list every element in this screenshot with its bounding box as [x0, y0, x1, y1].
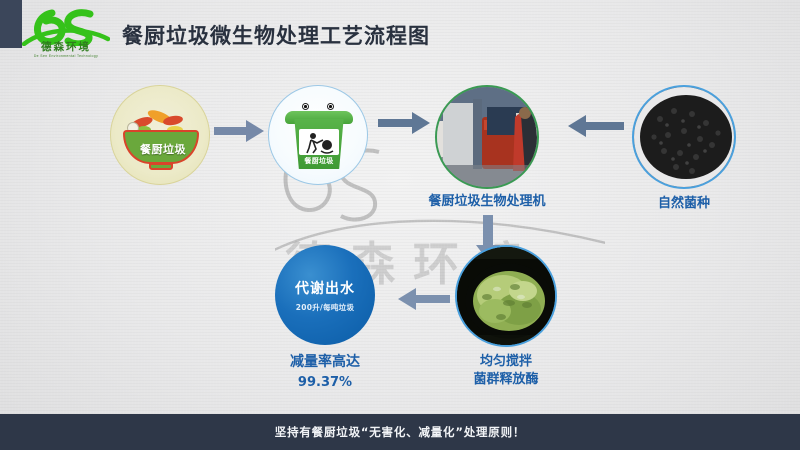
- mixing-caption-line-1: 均匀搅拌: [480, 354, 532, 369]
- footer-text: 坚持有餐厨垃圾“无害化、减量化”处理原则！: [275, 424, 525, 440]
- metabolic-water-circle: 代谢出水 200升/每吨垃圾: [275, 245, 375, 345]
- node-waste-bin: 餐厨垃圾: [268, 85, 368, 185]
- page-title: 餐厨垃圾微生物处理工艺流程图: [122, 20, 430, 50]
- node-caption: 餐厨垃圾生物处理机: [428, 193, 545, 211]
- ds-logo-mark: [22, 6, 110, 46]
- water-caption: 减量率高达 99.37%: [290, 353, 360, 392]
- corner-accent-block: [0, 0, 22, 48]
- arrow-bin-to-machine: [378, 112, 430, 134]
- footer-bar: 坚持有餐厨垃圾“无害化、减量化”处理原则！: [0, 414, 800, 450]
- mixing-caption-line-2: 菌群释放酶: [473, 372, 538, 387]
- logo-english-name: De Sen Environmental Technology: [22, 54, 110, 58]
- bin-sign-icon: [299, 129, 339, 155]
- company-logo: 德森环境 De Sen Environmental Technology: [22, 6, 110, 64]
- node-food-waste: 餐厨垃圾: [110, 85, 210, 185]
- arrow-mixing-to-water: [398, 288, 450, 310]
- bowl-label: 餐厨垃圾: [125, 141, 201, 157]
- reduction-rate-label: 减量率高达: [290, 354, 360, 370]
- node-bio-machine: 餐厨垃圾生物处理机: [435, 85, 539, 189]
- food-waste-bowl-icon: 餐厨垃圾: [110, 85, 210, 185]
- green-trash-bin-icon: 餐厨垃圾: [268, 85, 368, 185]
- bin-eye-right: [327, 103, 334, 110]
- logo-chinese-name: 德森环境: [22, 42, 110, 53]
- bowl-shape: 餐厨垃圾: [123, 130, 199, 164]
- node-caption: 均匀搅拌 菌群释放酶: [473, 353, 538, 388]
- black-granules-photo: [632, 85, 736, 189]
- mixing-photo: [455, 245, 557, 347]
- arrow-waste-to-bin: [214, 120, 264, 142]
- water-title: 代谢出水: [295, 278, 355, 298]
- water-subtitle: 200升/每吨垃圾: [296, 302, 355, 313]
- machine-photo: [435, 85, 539, 189]
- arrow-strain-to-machine: [568, 115, 624, 137]
- node-even-mixing: 均匀搅拌 菌群释放酶: [455, 245, 557, 347]
- reduction-rate-value: 99.37%: [298, 375, 352, 390]
- bin-label: 餐厨垃圾: [291, 156, 347, 166]
- slide-canvas: 德森环境 德森环境 De Sen Environmental Technolog…: [0, 0, 800, 450]
- bin-eye-left: [302, 103, 309, 110]
- node-natural-strain: 自然菌种: [632, 85, 736, 189]
- node-caption: 自然菌种: [658, 195, 710, 213]
- bowl-foot: [149, 163, 173, 170]
- node-metabolic-water: 代谢出水 200升/每吨垃圾 减量率高达 99.37%: [275, 245, 375, 345]
